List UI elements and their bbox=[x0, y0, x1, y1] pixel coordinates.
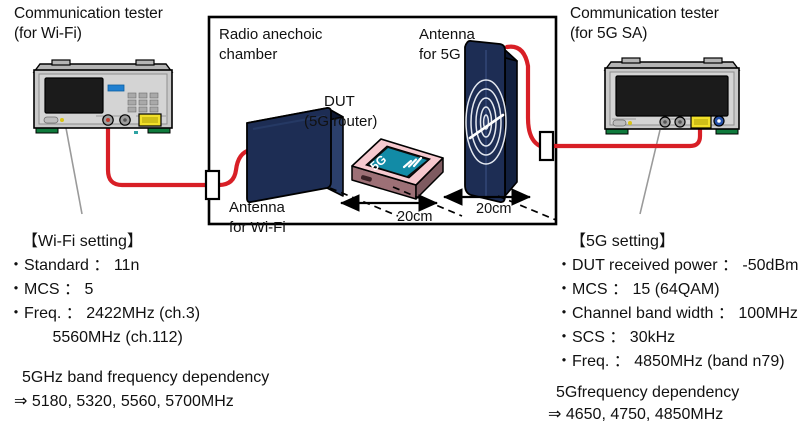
dimension-label-left: 20cm bbox=[397, 208, 432, 227]
communication-tester-wifi bbox=[34, 60, 172, 134]
left-tester-caption-line2: (for Wi-Fi) bbox=[14, 24, 82, 44]
dut-label-line1: DUT bbox=[324, 92, 355, 111]
diagram-canvas: 5G bbox=[0, 0, 800, 429]
communication-tester-5gsa bbox=[605, 58, 739, 134]
wifi-dependency-values: ⇒ 5180, 5320, 5560, 5700MHz bbox=[14, 392, 234, 412]
wifi-setting-item-1: ・MCS ： 5 bbox=[8, 280, 93, 300]
fiveg-antenna bbox=[465, 41, 517, 202]
fiveg-setting-item-3: ・SCS ： 30kHz bbox=[556, 328, 675, 348]
fiveg-setting-item-2: ・Channel band width ： 100MHz bbox=[556, 304, 798, 324]
wifi-setting-item-3: 5560MHz (ch.112) bbox=[8, 328, 183, 348]
wall-connector-right bbox=[540, 132, 553, 160]
fiveg-setting-item-1: ・MCS ： 15 (64QAM) bbox=[556, 280, 720, 300]
antenna-5g-label-line1: Antenna bbox=[419, 25, 475, 44]
fiveg-setting-item-4: ・Freq. ： 4850MHz (band n79) bbox=[556, 352, 785, 372]
wifi-setting-item-0: ・Standard ： 11n bbox=[8, 256, 139, 276]
antenna-5g-label-line2: for 5G bbox=[419, 45, 461, 64]
left-tester-caption-line1: Communication tester bbox=[14, 4, 163, 24]
chamber-label-line2: chamber bbox=[219, 45, 277, 64]
right-tester-caption-line1: Communication tester bbox=[570, 4, 719, 24]
wall-connector-left bbox=[206, 171, 219, 199]
wifi-setting-title: 【Wi-Fi setting】 bbox=[22, 232, 143, 252]
wifi-dependency-title: 5GHz band frequency dependency bbox=[22, 368, 269, 388]
left-tester-leader-line bbox=[66, 128, 82, 214]
fiveg-setting-title: 【5G setting】 bbox=[570, 232, 675, 252]
antenna-wifi-label-line2: for Wi-Fi bbox=[229, 218, 286, 237]
right-tester-caption-line2: (for 5G SA) bbox=[570, 24, 647, 44]
chamber-label-line1: Radio anechoic bbox=[219, 25, 322, 44]
dimension-label-right: 20cm bbox=[476, 200, 511, 219]
dut-label-line2: (5G router) bbox=[304, 112, 377, 131]
fiveg-dependency-title: 5Gfrequency dependency bbox=[556, 383, 739, 403]
fiveg-setting-item-0: ・DUT received power ： -50dBm bbox=[556, 256, 798, 276]
fiveg-dependency-values: ⇒ 4650, 4750, 4850MHz bbox=[548, 405, 723, 425]
right-tester-leader-line bbox=[640, 130, 660, 214]
antenna-wifi-label-line1: Antenna bbox=[229, 198, 285, 217]
wifi-setting-item-2: ・Freq. ： 2422MHz (ch.3) bbox=[8, 304, 200, 324]
